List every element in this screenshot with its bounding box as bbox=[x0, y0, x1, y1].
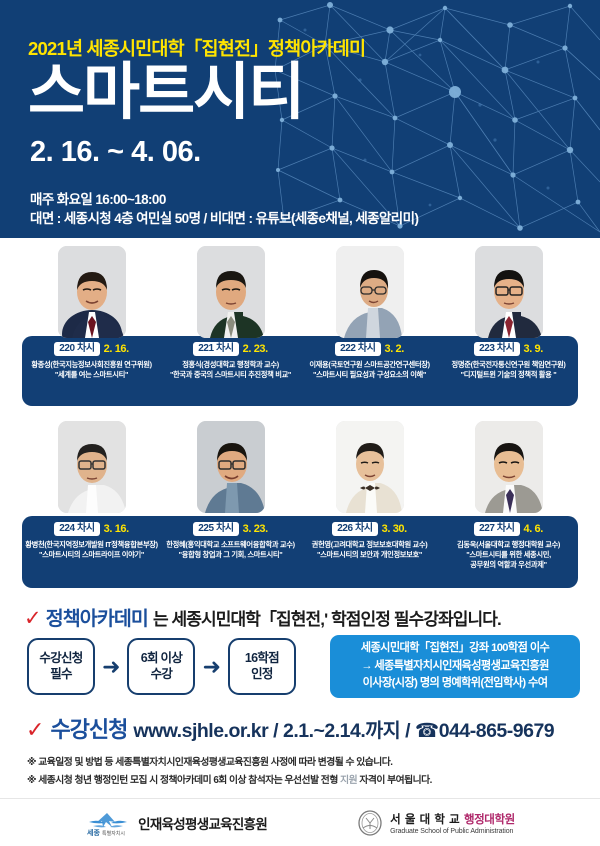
session-number-badge: 227 차시 bbox=[474, 522, 519, 536]
session-header-223: 223 차시 3. 9. bbox=[442, 342, 575, 356]
flow-step-2-line2: 수강 bbox=[151, 667, 173, 682]
flow-step-3-line2: 인정 bbox=[251, 667, 273, 682]
session-topic: "스마트시티의 보안과 개인정보보호" bbox=[303, 550, 436, 560]
flow-step-3: 16학점 인정 bbox=[228, 638, 296, 695]
degree-info-line-2: → 세종특별자치시인재육성평생교육진흥원 bbox=[361, 658, 549, 675]
speaker-photo-223 bbox=[475, 246, 543, 338]
session-caption-223: 223 차시 3. 9. 정명준(한국전자통신연구원 책임연구원) "디지털트윈… bbox=[439, 342, 578, 380]
session-date: 3. 9. bbox=[524, 343, 543, 355]
snu-korean-school: 행정대학원 bbox=[464, 814, 515, 826]
session-caption-220: 220 차시 2. 16. 황종성(한국지능정보사회진흥원 연구위원) "세계를… bbox=[22, 342, 161, 380]
poster-root: 2021년 세종시민대학「집현전」정책아카데미 스마트시티 2. 16. ~ 4… bbox=[0, 0, 600, 846]
session-speaker: 정명준(한국전자통신연구원 책임연구원) bbox=[442, 360, 575, 370]
speaker-photo-226 bbox=[336, 421, 404, 513]
credit-flow-diagram: 수강신청 필수 ➜ 6회 이상 수강 ➜ 16학점 인정 bbox=[27, 638, 296, 695]
session-speaker: 김동욱(서울대학교 행정대학원 교수) bbox=[442, 540, 575, 550]
session-row-1-photos bbox=[22, 246, 578, 356]
poster-footer: 세종 특별자치시 인재육성평생교육진흥원 bbox=[0, 799, 600, 846]
degree-info-box: 세종시민대학「집현전」강좌 100학점 이수 → 세종특별자치시인재육성평생교육… bbox=[330, 635, 580, 698]
check-icon: ✓ bbox=[26, 719, 44, 741]
session-row-1-captions: 220 차시 2. 16. 황종성(한국지능정보사회진흥원 연구위원) "세계를… bbox=[22, 342, 578, 380]
session-date: 3. 30. bbox=[382, 523, 407, 535]
speaker-photo-227 bbox=[475, 421, 543, 513]
session-caption-221: 221 차시 2. 23. 정홍식(경성대학교 행정학과 교수) "한국과 중국… bbox=[161, 342, 300, 380]
footnote-1: ※ 교육일정 및 방법 등 세종특별자치시인재육성평생교육진흥원 사정에 따라 … bbox=[27, 754, 392, 768]
session-topic: "스마트시티의 스마트라이프 이야기" bbox=[25, 550, 158, 560]
session-date: 2. 16. bbox=[104, 343, 129, 355]
session-number-badge: 220 차시 bbox=[54, 342, 99, 356]
date-range: 2. 16. ~ 4. 06. bbox=[30, 136, 201, 169]
session-header-220: 220 차시 2. 16. bbox=[25, 342, 158, 356]
degree-info-line-3: 이사장(시장) 명의 명예학위(전임학사) 수여 bbox=[363, 675, 548, 692]
session-topic: "디지털트윈 기술의 정책적 활용 " bbox=[442, 370, 575, 380]
session-date: 2. 23. bbox=[243, 343, 268, 355]
snu-english-line: Graduate School of Public Administration bbox=[390, 828, 515, 835]
arrow-right-icon: ➜ bbox=[102, 656, 120, 678]
session-row-2: 224 차시 3. 16. 황병천(한국지역정보개발원 IT정책융합본부장) "… bbox=[0, 413, 600, 590]
session-topic: "한국과 중국의 스마트시티 추진정책 비교" bbox=[164, 370, 297, 380]
session-topic: "스마트시티 필요성과 구성요소의 이해" bbox=[303, 370, 436, 380]
session-caption-227: 227 차시 4. 6. 김동욱(서울대학교 행정대학원 교수) "스마트시티를… bbox=[439, 522, 578, 570]
snu-text-block: 서 울 대 학 교 행정대학원 Graduate School of Publi… bbox=[390, 811, 515, 835]
svg-text:특별자치시: 특별자치시 bbox=[102, 830, 125, 836]
session-speaker: 한정혜(홍익대학교 소프트웨어융합학과 교수) bbox=[164, 540, 297, 550]
session-caption-225: 225 차시 3. 23. 한정혜(홍익대학교 소프트웨어융합학과 교수) "융… bbox=[161, 522, 300, 570]
claim-highlight: 정책아카데미 bbox=[46, 602, 148, 631]
session-header-221: 221 차시 2. 23. bbox=[164, 342, 297, 356]
session-speaker: 권헌영(고려대학교 정보보호대학원 교수) bbox=[303, 540, 436, 550]
flow-step-1-line2: 필수 bbox=[50, 667, 72, 682]
footnote-2-part-a: ※ 세종시청 청년 행정인턴 모집 시 정책아카데미 6회 이상 참석자는 우선… bbox=[27, 775, 338, 786]
session-topic: "스마트시티를 위한 세종시민, 공무원의 역할과 우선과제" bbox=[442, 550, 575, 570]
venue-line: 대면 : 세종시청 4층 여민실 50명 / 비대면 : 유튜브(세종e채널, … bbox=[30, 207, 418, 227]
flow-step-2-line1: 6회 이상 bbox=[141, 651, 182, 666]
session-number-badge: 223 차시 bbox=[474, 342, 519, 356]
flow-step-1-line1: 수강신청 bbox=[39, 651, 82, 666]
session-topic: "세계를 여는 스마트시티" bbox=[25, 370, 158, 380]
sejong-institute-name: 인재육성평생교육진흥원 bbox=[138, 813, 267, 833]
apply-details[interactable]: www.sjhle.or.kr / 2.1.~2.14.까지 / ☎044-86… bbox=[133, 714, 554, 743]
poster-bottom: ✓ 정책아카데미 는 세종시민대학「집현전,' 학점인정 필수강좌입니다. 수강… bbox=[0, 590, 600, 846]
session-number-badge: 226 차시 bbox=[332, 522, 377, 536]
session-caption-224: 224 차시 3. 16. 황병천(한국지역정보개발원 IT정책융합본부장) "… bbox=[22, 522, 161, 570]
session-header-225: 225 차시 3. 23. bbox=[164, 522, 297, 536]
snu-logo: 서 울 대 학 교 행정대학원 Graduate School of Publi… bbox=[357, 810, 515, 836]
flow-step-3-line1: 16학점 bbox=[245, 651, 279, 666]
session-header-222: 222 차시 3. 2. bbox=[303, 342, 436, 356]
session-speaker: 황종성(한국지능정보사회진흥원 연구위원) bbox=[25, 360, 158, 370]
credit-claim: ✓ 정책아카데미 는 세종시민대학「집현전,' 학점인정 필수강좌입니다. bbox=[24, 602, 580, 631]
speaker-photo-221 bbox=[197, 246, 265, 338]
speaker-photo-220 bbox=[58, 246, 126, 338]
session-date: 3. 23. bbox=[243, 523, 268, 535]
schedule-line: 매주 화요일 16:00~18:00 bbox=[30, 188, 166, 208]
footnote-2-part-c: 자격이 부여됩니다. bbox=[357, 775, 432, 786]
session-row-2-photos bbox=[22, 421, 578, 531]
session-header-226: 226 차시 3. 30. bbox=[303, 522, 436, 536]
snu-korean-line: 서 울 대 학 교 행정대학원 bbox=[390, 811, 515, 827]
sejong-logo: 세종 특별자치시 인재육성평생교육진흥원 bbox=[85, 810, 267, 836]
session-date: 3. 16. bbox=[104, 523, 129, 535]
session-speaker: 이재용(국토연구원 스마트공간연구센터장) bbox=[303, 360, 436, 370]
arrow-right-icon: ➜ bbox=[202, 656, 220, 678]
poster-header: 2021년 세종시민대학「집현전」정책아카데미 스마트시티 2. 16. ~ 4… bbox=[0, 0, 600, 238]
session-header-224: 224 차시 3. 16. bbox=[25, 522, 158, 536]
session-speaker: 정홍식(경성대학교 행정학과 교수) bbox=[164, 360, 297, 370]
snu-emblem-icon bbox=[357, 810, 383, 836]
speaker-photo-222 bbox=[336, 246, 404, 338]
footnote-2-part-b: 지원 bbox=[338, 775, 357, 786]
svg-text:세종: 세종 bbox=[87, 828, 100, 836]
speaker-photo-224 bbox=[58, 421, 126, 513]
page-title: 스마트시티 bbox=[28, 62, 303, 124]
session-caption-226: 226 차시 3. 30. 권헌영(고려대학교 정보보호대학원 교수) "스마트… bbox=[300, 522, 439, 570]
check-icon: ✓ bbox=[24, 608, 41, 629]
session-caption-222: 222 차시 3. 2. 이재용(국토연구원 스마트공간연구센터장) "스마트시… bbox=[300, 342, 439, 380]
session-date: 3. 2. bbox=[385, 343, 404, 355]
footnote-2: ※ 세종시청 청년 행정인턴 모집 시 정책아카데미 6회 이상 참석자는 우선… bbox=[27, 772, 432, 786]
session-number-badge: 224 차시 bbox=[54, 522, 99, 536]
session-row-2-captions: 224 차시 3. 16. 황병천(한국지역정보개발원 IT정책융합본부장) "… bbox=[22, 522, 578, 570]
session-row-1: 220 차시 2. 16. 황종성(한국지능정보사회진흥원 연구위원) "세계를… bbox=[0, 238, 600, 408]
flow-step-2: 6회 이상 수강 bbox=[127, 638, 195, 695]
session-date: 4. 6. bbox=[524, 523, 543, 535]
session-number-badge: 225 차시 bbox=[193, 522, 238, 536]
session-number-badge: 221 차시 bbox=[193, 342, 238, 356]
apply-line: ✓ 수강신청 www.sjhle.or.kr / 2.1.~2.14.까지 / … bbox=[26, 712, 586, 744]
snu-korean-univ: 서 울 대 학 교 bbox=[390, 814, 464, 826]
sejong-wing-icon: 세종 특별자치시 bbox=[85, 810, 131, 836]
degree-info-line-1: 세종시민대학「집현전」강좌 100학점 이수 bbox=[361, 640, 549, 657]
apply-label: 수강신청 bbox=[50, 712, 127, 744]
session-speaker: 황병천(한국지역정보개발원 IT정책융합본부장) bbox=[25, 540, 158, 550]
speaker-photo-225 bbox=[197, 421, 265, 513]
flow-step-1: 수강신청 필수 bbox=[27, 638, 95, 695]
claim-rest: 는 세종시민대학「집현전,' 학점인정 필수강좌입니다. bbox=[153, 605, 501, 630]
session-header-227: 227 차시 4. 6. bbox=[442, 522, 575, 536]
session-topic: "융합형 창업과 그 기회, 스마트시티" bbox=[164, 550, 297, 560]
session-number-badge: 222 차시 bbox=[335, 342, 380, 356]
